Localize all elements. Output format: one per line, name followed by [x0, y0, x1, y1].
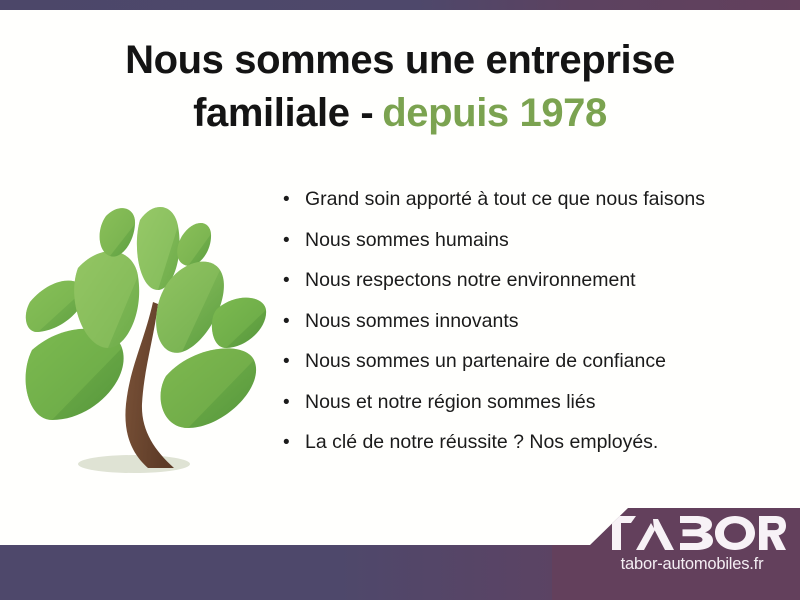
list-item-label: Nous respectons notre environnement [305, 271, 783, 291]
bullet-marker-icon: • [283, 312, 305, 331]
tree-illustration [22, 192, 272, 484]
list-item-label: Nous et notre région sommes liés [305, 393, 783, 413]
tree-leaves [26, 207, 267, 428]
list-item-label: La clé de notre réussite ? Nos employés. [305, 433, 783, 453]
page-title-accent: depuis 1978 [382, 91, 607, 135]
bullet-marker-icon: • [283, 231, 305, 250]
page-title-line-1: Nous sommes une entreprise [125, 38, 675, 82]
list-item: • Nous sommes humains [283, 231, 783, 272]
list-item-label: Nous sommes un partenaire de confiance [305, 352, 783, 372]
bullet-marker-icon: • [283, 190, 305, 209]
slide-canvas: Nous sommes une entreprise familiale -de… [0, 0, 800, 600]
list-item: • Nous sommes un partenaire de confiance [283, 352, 783, 393]
list-item-label: Nous sommes humains [305, 231, 783, 251]
bullet-marker-icon: • [283, 352, 305, 371]
tabor-wordmark-logo [596, 516, 786, 550]
brand-logo-panel[interactable]: tabor-automobiles.fr [552, 508, 800, 600]
list-item: • La clé de notre réussite ? Nos employé… [283, 433, 783, 474]
page-title-line-2-plain: familiale - [193, 91, 373, 135]
list-item: • Nous respectons notre environnement [283, 271, 783, 312]
list-item-label: Nous sommes innovants [305, 312, 783, 332]
bullet-marker-icon: • [283, 271, 305, 290]
bullet-marker-icon: • [283, 393, 305, 412]
page-title-line-2: familiale -depuis 1978 [0, 87, 800, 140]
page-title: Nous sommes une entreprise familiale -de… [0, 34, 800, 140]
list-item: • Nous et notre région sommes liés [283, 393, 783, 434]
value-list: • Grand soin apporté à tout ce que nous … [283, 190, 783, 474]
brand-tagline: tabor-automobiles.fr [596, 555, 788, 574]
list-item: • Grand soin apporté à tout ce que nous … [283, 190, 783, 231]
top-accent-bar [0, 0, 800, 10]
bullet-marker-icon: • [283, 433, 305, 452]
list-item-label: Grand soin apporté à tout ce que nous fa… [305, 190, 783, 210]
list-item: • Nous sommes innovants [283, 312, 783, 353]
tree-shadow [78, 455, 190, 473]
